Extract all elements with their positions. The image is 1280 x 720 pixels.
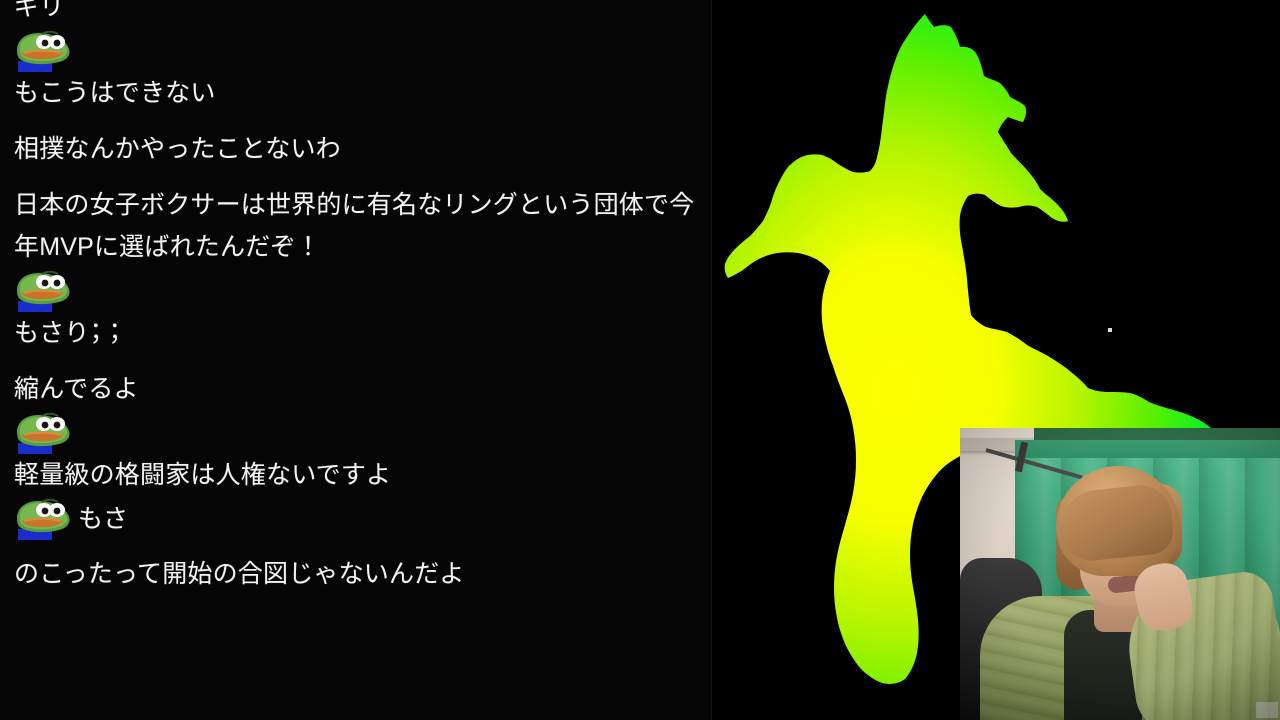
corner-badge [1256,702,1278,718]
chat-message[interactable]: もこうはできない [0,72,711,114]
chat-message-text: もさ [78,504,128,534]
chat-message[interactable]: 相撲なんかやったことないわ [0,128,711,170]
pepe-frog-emote[interactable] [14,496,76,540]
chat-emote-row[interactable] [0,268,711,312]
map-speck-dot [1108,328,1112,332]
chat-message[interactable]: もさり；； [0,312,711,354]
chat-emote-row[interactable] [0,410,711,454]
chat-message[interactable]: のこったって開始の合図じゃないんだよ [0,553,711,595]
chat-message[interactable]: 日本の女子ボクサーは世界的に有名なリングという団体で今年MVPに選ばれたんだぞ！ [0,184,711,268]
pepe-frog-emote[interactable] [14,410,76,454]
chat-message-list[interactable]: ギリ もこうはできない相撲なんかやったことないわ日本の女子ボクサーは世界的に有名… [0,0,711,595]
pepe-frog-emote[interactable] [14,28,76,72]
curtain-top-edge [1015,440,1280,458]
chat-emote-row[interactable]: もさ [0,496,711,540]
chat-pane[interactable]: ギリ もこうはできない相撲なんかやったことないわ日本の女子ボクサーは世界的に有名… [0,0,711,720]
chat-message[interactable]: ギリ [0,0,711,28]
streamer-facecam[interactable] [960,428,1280,720]
pepe-frog-emote[interactable] [14,268,76,312]
chat-emote-row[interactable] [0,28,711,72]
chat-message[interactable]: 縮んでるよ [0,368,711,410]
chat-message[interactable]: 軽量級の格闘家は人権ないですよ [0,454,711,496]
stream-screen: ギリ もこうはできない相撲なんかやったことないわ日本の女子ボクサーは世界的に有名… [0,0,1280,720]
